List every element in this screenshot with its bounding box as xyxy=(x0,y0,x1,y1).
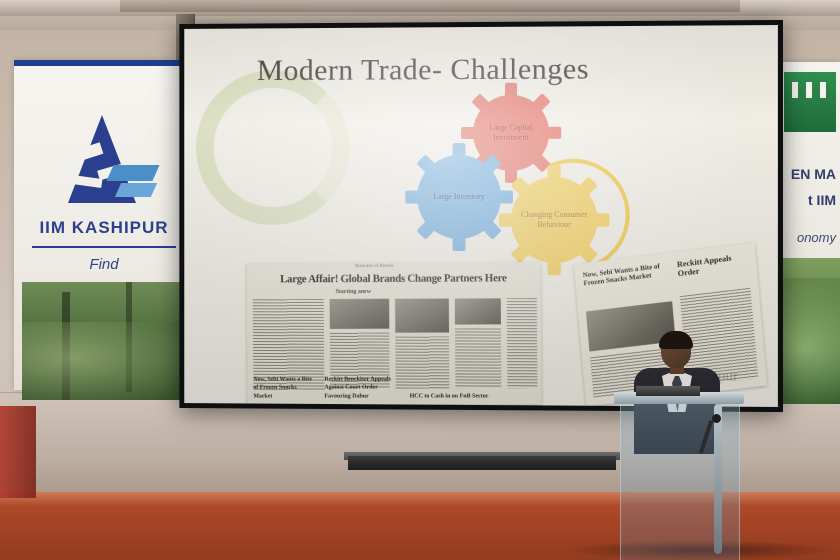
clipping-photo xyxy=(455,298,501,324)
gear-yellow: Changing Consumer Behaviour xyxy=(511,177,597,263)
gear-blue: Large Inventory xyxy=(417,155,501,239)
clipping-right-headline-left: Now, Sebi Wants a Bite of Frozen Snacks … xyxy=(582,261,668,287)
photo-scene: IIM KASHIPUR Find EN MA t IIM onomy Mode… xyxy=(0,0,840,560)
clipping-masthead: Business of Brands xyxy=(355,264,393,269)
institute-name: IIM KASHIPUR xyxy=(14,218,194,238)
clipping-subhead: Starting anew xyxy=(336,289,372,295)
ceiling-pipe xyxy=(120,0,740,12)
clipping-text-column xyxy=(507,298,538,388)
clipping-photo xyxy=(395,299,449,333)
clipping-footer-headline: Reckitt Benckiser Appeals Against Court … xyxy=(324,375,401,400)
clipping-text-column xyxy=(455,328,501,388)
banner-green-graphic xyxy=(784,72,836,132)
gear-teeth-icon xyxy=(499,165,610,276)
podium xyxy=(620,398,740,560)
clipping-photo xyxy=(330,299,390,329)
projection-screen-frame: Modern Trade- Challenges xyxy=(179,20,783,412)
clipping-text-column xyxy=(395,336,449,388)
clipping-headline: Large Affair! Global Brands Change Partn… xyxy=(251,272,537,285)
clipping-footer-headline: HCC to Cash in on FnB Sector xyxy=(410,392,490,400)
curtain xyxy=(0,406,36,498)
banner-left: IIM KASHIPUR Find xyxy=(14,60,194,390)
iim-kashipur-logo xyxy=(48,115,160,215)
clipping-footer-headline: Now, Sebi Wants a Bite of Frozen Snacks … xyxy=(253,375,316,400)
clipping-right-headline-right: Reckitt Appeals Order xyxy=(677,252,749,279)
speaker-hair xyxy=(659,331,693,349)
podium-rail xyxy=(714,404,722,554)
laptop xyxy=(636,386,700,396)
microphone-head xyxy=(712,414,721,423)
divider xyxy=(32,246,176,248)
banner-accent-band xyxy=(14,60,194,66)
banner-photo xyxy=(22,282,186,400)
newspaper-clipping-main: Business of Brands Large Affair! Global … xyxy=(247,262,542,404)
banner-tagline: Find xyxy=(14,256,194,273)
gear-teeth-icon xyxy=(405,143,513,251)
slide-watermark-circle xyxy=(196,70,350,225)
stage-table xyxy=(348,456,616,470)
